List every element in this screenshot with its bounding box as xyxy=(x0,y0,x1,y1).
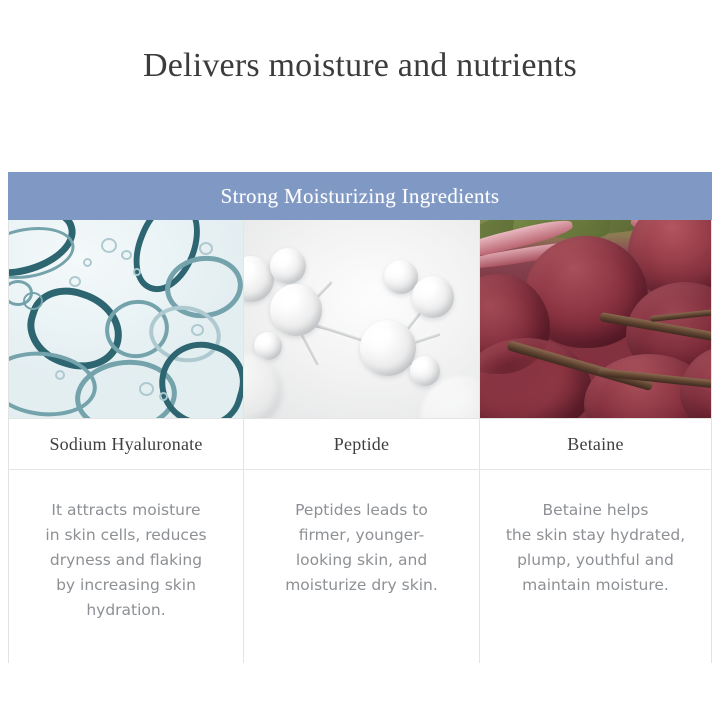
infographic-page: Delivers moisture and nutrients Strong M… xyxy=(0,0,720,720)
bubble-shape xyxy=(191,324,204,336)
ingredient-column-peptide: Peptide Peptides leads to firmer, younge… xyxy=(243,220,480,663)
bubble-shape xyxy=(83,258,92,267)
bubble-shape xyxy=(23,292,43,310)
ingredient-name: Betaine xyxy=(567,434,623,455)
table-header-bar: Strong Moisturizing Ingredients xyxy=(8,172,712,220)
ingredient-column-betaine: Betaine Betaine helps the skin stay hydr… xyxy=(480,220,711,663)
bubble-shape xyxy=(133,268,141,276)
molecule-structure-image xyxy=(244,220,479,418)
ingredient-name: Peptide xyxy=(334,434,389,455)
bubble-shape xyxy=(199,242,213,255)
molecule-atom xyxy=(412,276,454,318)
bubble-shape xyxy=(55,370,65,380)
table-columns: Sodium Hyaluronate It attracts moisture … xyxy=(8,220,712,663)
molecule-atom xyxy=(270,284,322,336)
bubble-shape xyxy=(139,382,154,396)
molecule-atom xyxy=(360,320,416,376)
beetroot-image xyxy=(480,220,711,418)
water-bubbles-image xyxy=(9,220,243,418)
bubble-shape xyxy=(121,250,132,260)
ingredient-description: It attracts moisture in skin cells, redu… xyxy=(35,498,216,623)
ingredient-description: Betaine helps the skin stay hydrated, pl… xyxy=(496,498,695,598)
ingredient-description-cell: Betaine helps the skin stay hydrated, pl… xyxy=(480,470,711,663)
ingredient-name: Sodium Hyaluronate xyxy=(49,434,202,455)
table-header-title: Strong Moisturizing Ingredients xyxy=(221,184,500,209)
ingredient-description-cell: Peptides leads to firmer, younger- looki… xyxy=(244,470,479,663)
ingredient-label-cell: Peptide xyxy=(244,418,479,470)
bubble-shape xyxy=(101,238,117,253)
ingredient-table: Strong Moisturizing Ingredients xyxy=(8,172,712,663)
ingredient-description-cell: It attracts moisture in skin cells, redu… xyxy=(9,470,243,663)
bubble-shape xyxy=(69,276,81,287)
bubble-shape xyxy=(159,392,168,401)
molecule-atom xyxy=(270,248,306,284)
page-title: Delivers moisture and nutrients xyxy=(0,44,720,88)
ingredient-label-cell: Betaine xyxy=(480,418,711,470)
molecule-atom xyxy=(410,356,440,386)
ingredient-column-sodium-hyaluronate: Sodium Hyaluronate It attracts moisture … xyxy=(9,220,243,663)
ingredient-label-cell: Sodium Hyaluronate xyxy=(9,418,243,470)
ingredient-description: Peptides leads to firmer, younger- looki… xyxy=(275,498,448,598)
